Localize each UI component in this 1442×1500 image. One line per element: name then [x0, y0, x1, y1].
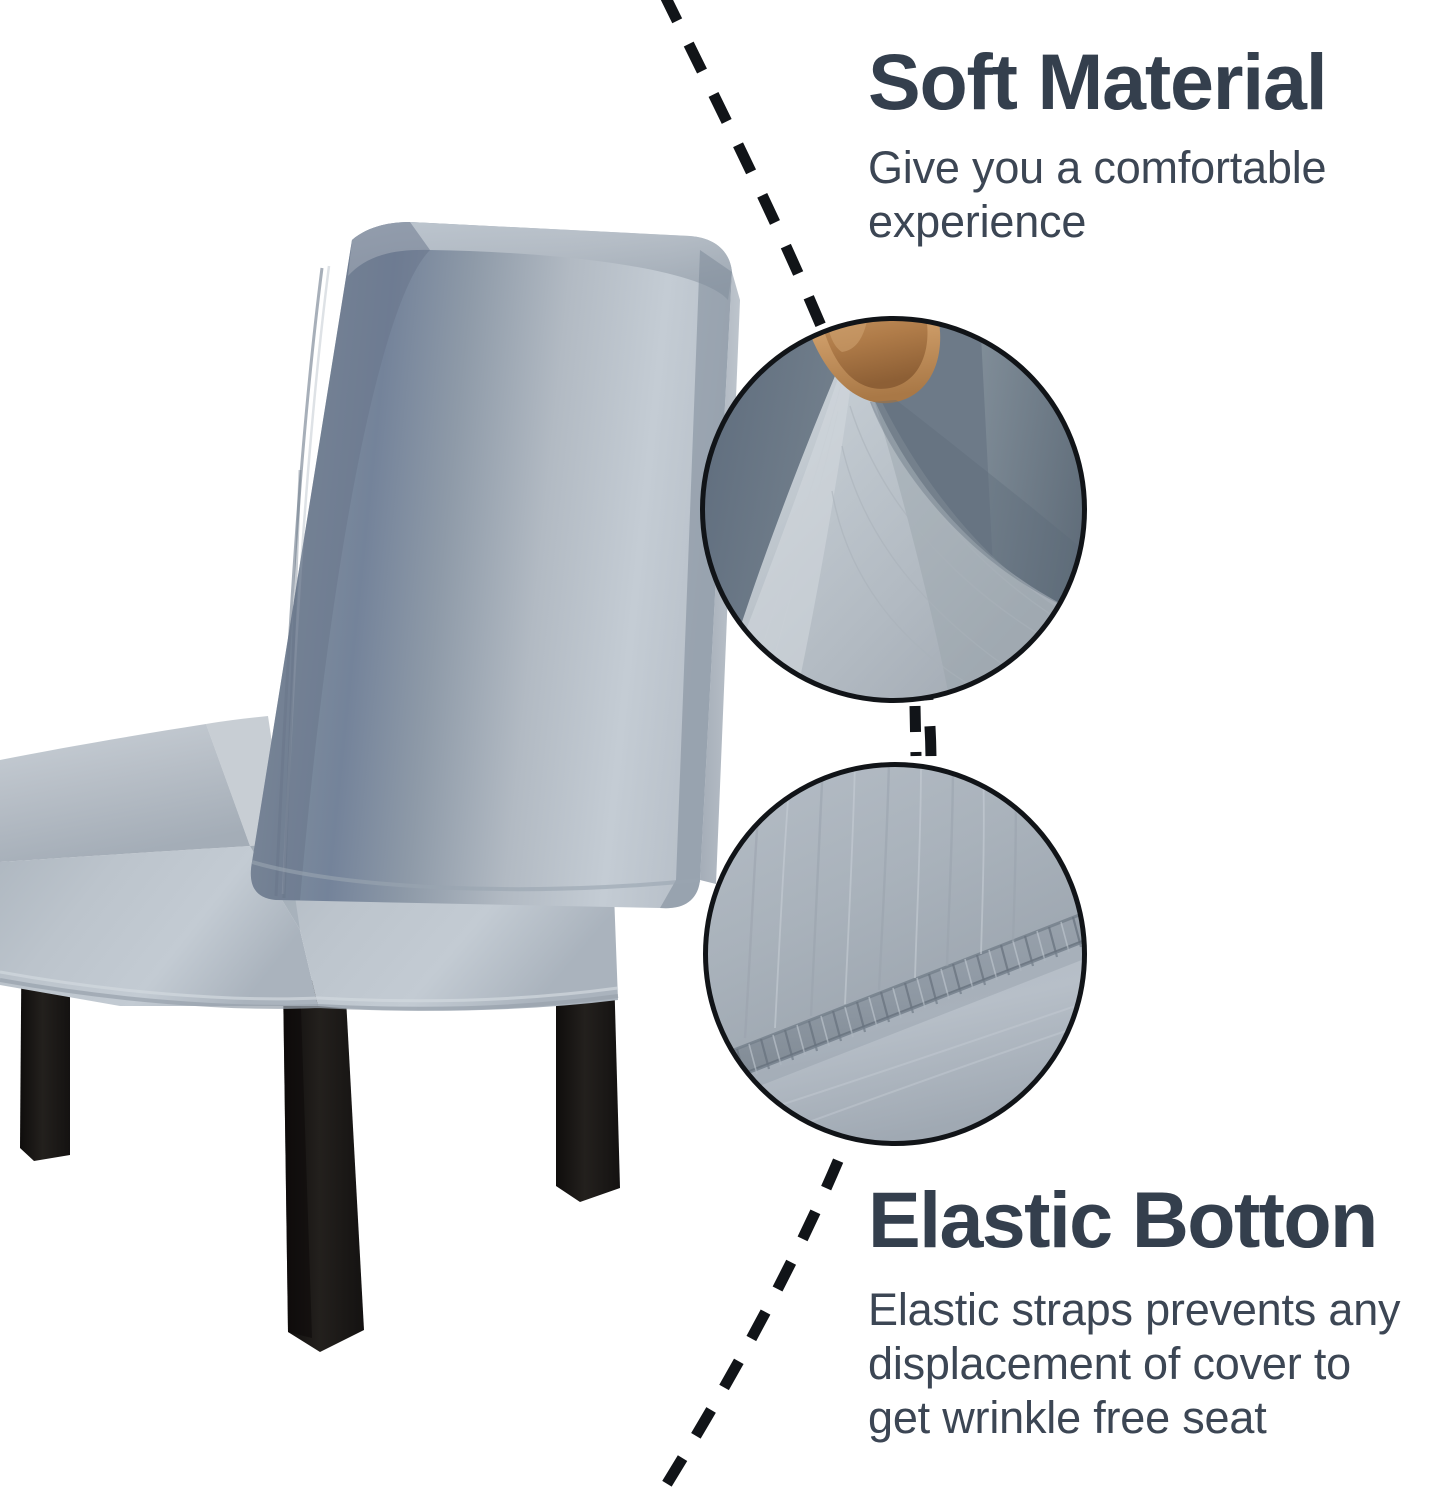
- soft-material-callout: Soft Material Give you a comfortable exp…: [868, 44, 1398, 248]
- elastic-bottom-callout: Elastic Botton Elastic straps prevents a…: [868, 1182, 1428, 1445]
- elastic-bottom-detail-circle: [703, 762, 1087, 1146]
- elastic-bottom-body: Elastic straps prevents any displacement…: [868, 1283, 1428, 1445]
- soft-material-body-line-2: experience: [868, 196, 1086, 247]
- soft-material-body-line-1: Give you a comfortable: [868, 142, 1326, 193]
- elastic-bottom-heading: Elastic Botton: [868, 1182, 1428, 1257]
- chair-leg-front: [283, 980, 364, 1352]
- elastic-bottom-body-line-2: displacement of cover to: [868, 1338, 1351, 1389]
- elastic-bottom-body-line-1: Elastic straps prevents any: [868, 1284, 1400, 1335]
- elastic-bottom-body-line-3: get wrinkle free seat: [868, 1392, 1267, 1443]
- dashed-circle-connector: [915, 706, 916, 756]
- soft-material-body: Give you a comfortable experience: [868, 141, 1398, 248]
- infographic-canvas: Soft Material Give you a comfortable exp…: [0, 0, 1442, 1500]
- soft-material-detail-circle: [700, 316, 1087, 703]
- soft-material-heading: Soft Material: [868, 44, 1398, 119]
- chair-illustration: [0, 222, 740, 1352]
- chair-backrest: [251, 222, 732, 908]
